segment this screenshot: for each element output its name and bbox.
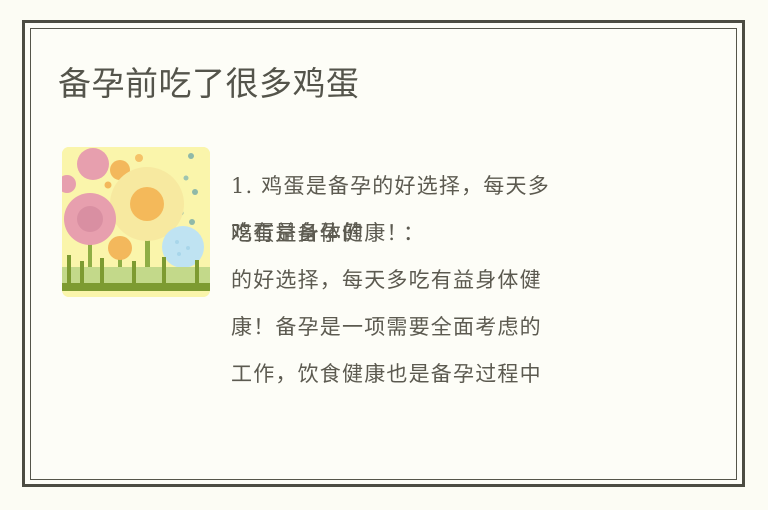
page-title: 备孕前吃了很多鸡蛋	[58, 63, 360, 105]
overlap-layer-over: 鸡蛋是备孕的	[231, 210, 364, 257]
article-body: 1. 鸡蛋是备孕的好选择，每天多 吃有益身体健康！ 吃有益身体健康！ 鸡蛋是备孕…	[231, 163, 661, 398]
article-page: 备孕前吃了很多鸡蛋	[0, 0, 768, 510]
flower-garden-icon	[62, 147, 210, 297]
overlap-trailing-colon: ：	[403, 210, 425, 257]
body-line-5: 工作，饮食健康也是备孕过程中	[231, 351, 661, 398]
body-line-1: 1. 鸡蛋是备孕的好选择，每天多	[231, 163, 661, 210]
body-line-3: 的好选择，每天多吃有益身体健	[231, 257, 661, 304]
body-line-4: 康！备孕是一项需要全面考虑的	[231, 304, 661, 351]
body-line-2-overlapping: 吃有益身体健康！ 吃有益身体健康！ 鸡蛋是备孕的 ：	[231, 210, 661, 257]
flower-garden-illustration	[62, 147, 210, 297]
